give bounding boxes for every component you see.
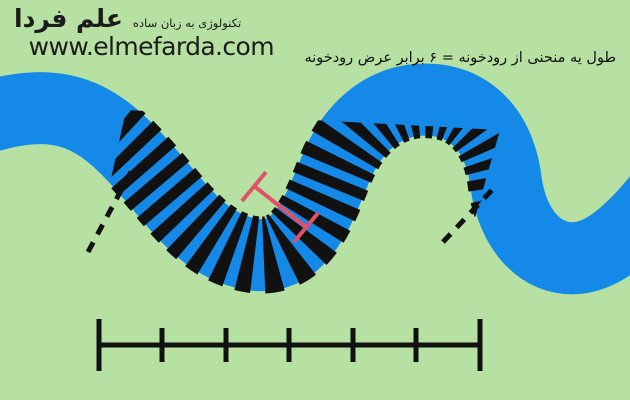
river-meander-infographic: علم فردا تکنولوژی به زبان ساده www.elmef…: [0, 0, 630, 400]
diagram-canvas: [0, 0, 630, 400]
